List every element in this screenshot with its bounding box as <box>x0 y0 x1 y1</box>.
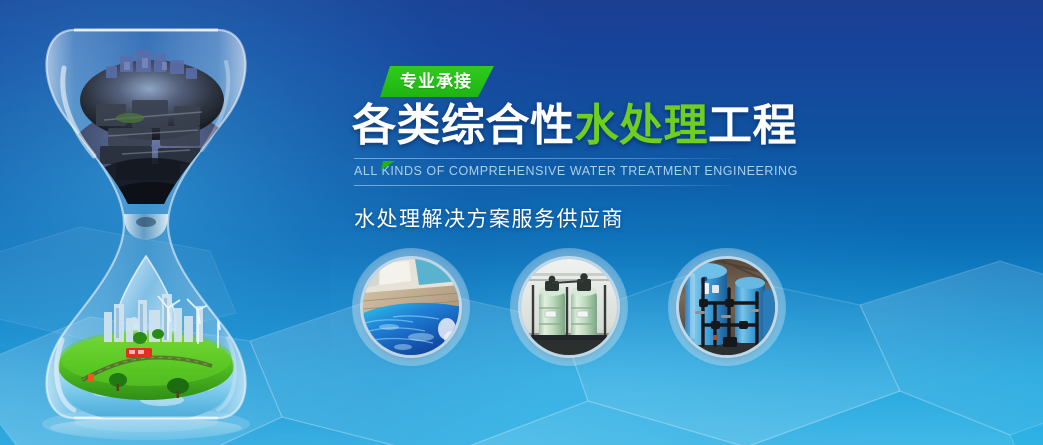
photo-circle-blue-tanks[interactable] <box>668 248 786 366</box>
photo-thumb-frp-tanks <box>521 259 617 355</box>
banner-text-block: 专业承接 各类综合性水处理工程 ALL KINDS OF COMPREHENSI… <box>352 66 782 233</box>
badge-professional-undertaking: 专业承接 <box>380 66 494 97</box>
photo-thumb-pool <box>363 259 459 355</box>
divider-bottom <box>354 185 732 186</box>
divider-top <box>354 158 732 159</box>
hourglass-illustration <box>12 8 280 440</box>
chinese-subtitle: 水处理解决方案服务供应商 <box>354 203 782 233</box>
photo-circle-swimming-pool[interactable] <box>352 248 470 366</box>
page-title: 各类综合性水处理工程 <box>352 103 782 149</box>
photo-thumb-blue-tanks <box>679 259 775 355</box>
hero-banner: 专业承接 各类综合性水处理工程 ALL KINDS OF COMPREHENSI… <box>0 0 1043 445</box>
badge-tail-icon <box>381 161 395 170</box>
headline-part-2: 工程 <box>708 101 797 150</box>
photo-circle-filter-tanks[interactable] <box>510 248 628 366</box>
english-subtitle: ALL KINDS OF COMPREHENSIVE WATER TREATME… <box>354 164 782 178</box>
headline-part-green: 水处理 <box>575 101 709 150</box>
headline-part-1: 各类综合性 <box>352 101 575 150</box>
